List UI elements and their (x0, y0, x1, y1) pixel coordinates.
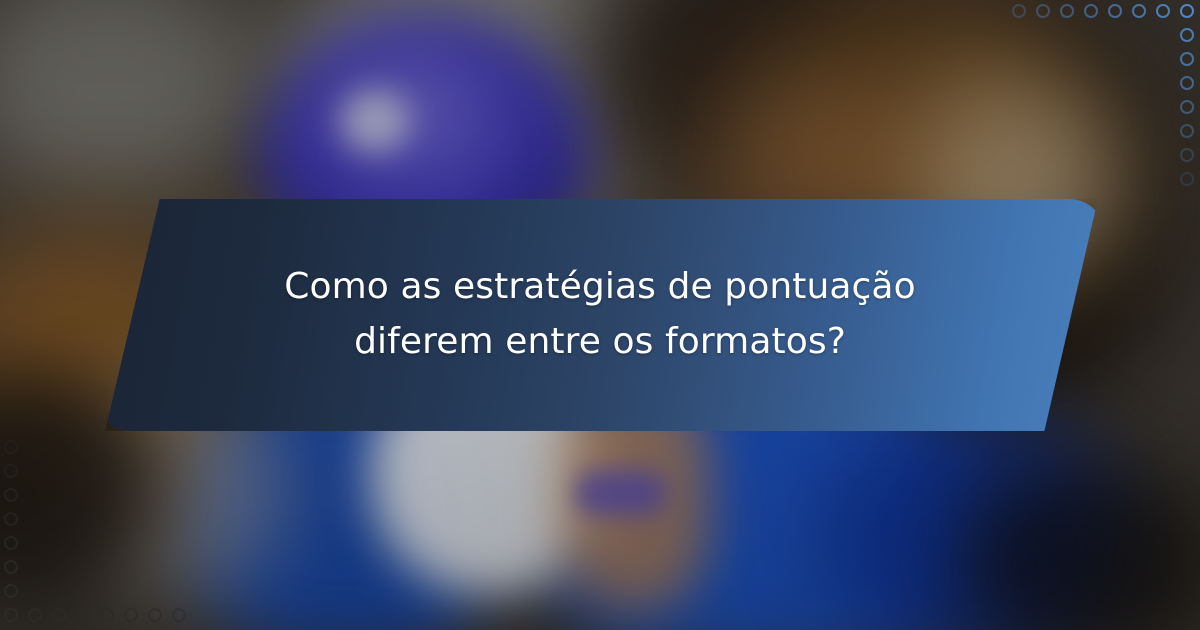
dot-icon (1180, 76, 1194, 90)
dot-icon (76, 608, 90, 622)
dot-icon (1180, 100, 1194, 114)
dot-icon (1108, 4, 1122, 18)
dot-icon (4, 536, 18, 550)
question-banner-content: Como as estratégias de pontuação diferem… (95, 199, 1105, 431)
dot-icon (28, 608, 42, 622)
dot-icon (1060, 4, 1074, 18)
dot-icon (1156, 4, 1170, 18)
dot-pattern-top-right (1008, 0, 1200, 192)
dot-icon (1180, 52, 1194, 66)
dot-icon (124, 608, 138, 622)
dot-icon (1180, 124, 1194, 138)
dot-icon (148, 608, 162, 622)
dot-icon (1132, 4, 1146, 18)
dot-icon (100, 608, 114, 622)
dot-icon (1180, 4, 1194, 18)
dot-icon (1180, 172, 1194, 186)
dot-icon (172, 608, 186, 622)
question-text: Como as estratégias de pontuação diferem… (220, 260, 980, 369)
slide-canvas: Como as estratégias de pontuação diferem… (0, 0, 1200, 630)
dot-pattern-bottom-left (0, 438, 192, 630)
dot-icon (4, 488, 18, 502)
dot-icon (4, 584, 18, 598)
dot-icon (1180, 28, 1194, 42)
dot-icon (1084, 4, 1098, 18)
dot-icon (1180, 148, 1194, 162)
dot-icon (4, 608, 18, 622)
dot-icon (1036, 4, 1050, 18)
dot-icon (4, 464, 18, 478)
dot-icon (52, 608, 66, 622)
dot-icon (4, 440, 18, 454)
dot-icon (4, 512, 18, 526)
dot-icon (4, 560, 18, 574)
question-banner: Como as estratégias de pontuação diferem… (95, 199, 1105, 431)
dot-icon (1012, 4, 1026, 18)
